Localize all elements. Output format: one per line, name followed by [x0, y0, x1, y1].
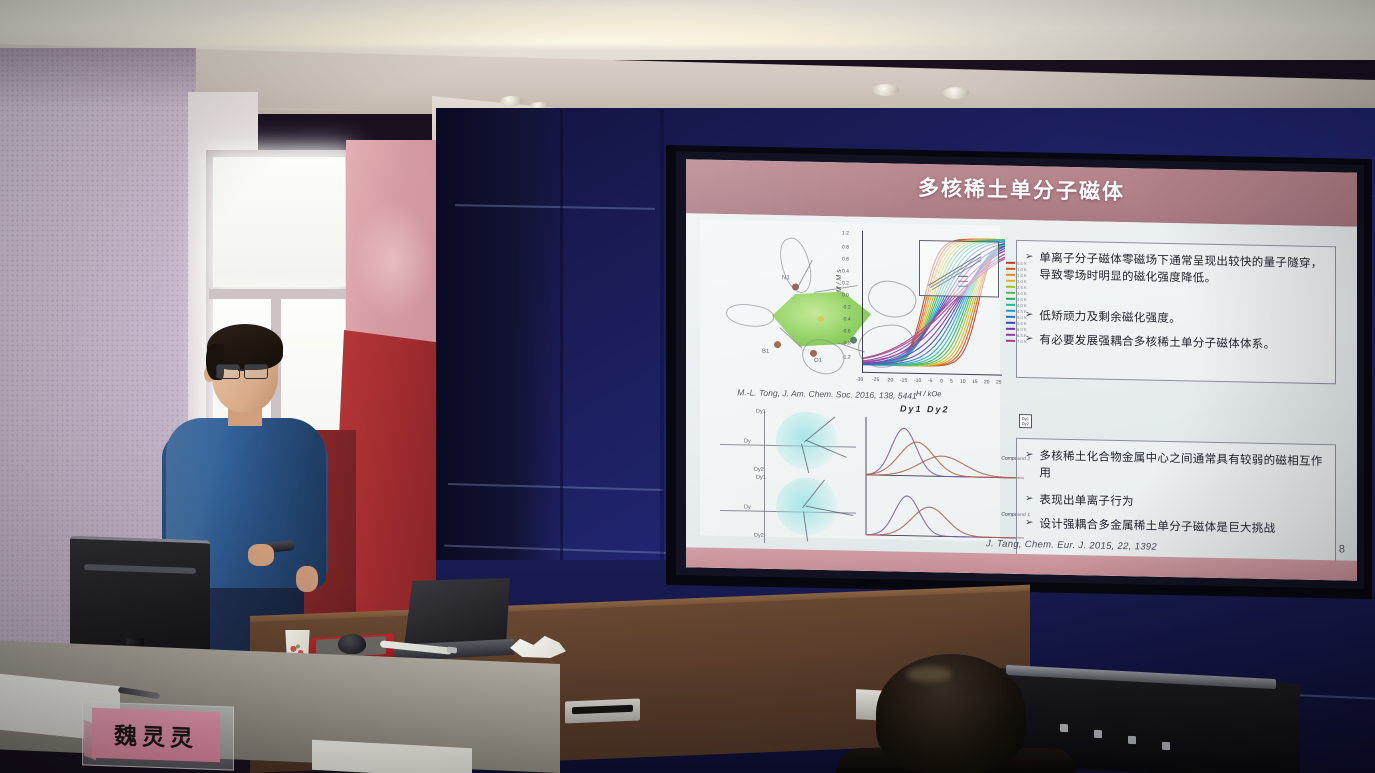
window-pane-top	[213, 157, 345, 287]
ac-susceptibility-chart: Dy1 Dy2 Dy1 Dy2 Compound 2 Compound 1	[836, 404, 1036, 548]
bullet-text: 表现出单离子行为	[1039, 491, 1133, 510]
slide-page-number: 8	[1339, 543, 1345, 555]
hysteresis-chart: M / M s H / kOe 1.2 0.8 0.6 0.4 0.2 0.0 …	[838, 226, 1028, 398]
wall-light-reflection	[352, 200, 434, 320]
presenter-hand-right	[296, 566, 318, 592]
presenter-hand-left	[248, 544, 274, 566]
inset-line	[932, 259, 982, 290]
axis-tick-label: Dy2	[754, 533, 764, 539]
legend-swatch	[1006, 298, 1015, 300]
ac-curves	[836, 410, 1036, 548]
y-tick: 0.4	[842, 268, 849, 274]
central-metal-atom	[818, 316, 824, 322]
ac-chart-legend: Dy1 Dy2	[1019, 414, 1032, 428]
legend-swatch	[1006, 286, 1015, 288]
y-tick: 0.0	[842, 292, 849, 298]
y-tick: 0.2	[842, 280, 849, 286]
atom-label: N1	[782, 275, 790, 281]
glasses-icon	[216, 364, 240, 379]
bullet-marker-icon: ➢	[1025, 307, 1033, 324]
legend-entry: Dy2	[1022, 421, 1029, 426]
conference-room-photo: 多核稀土单分子磁体	[0, 0, 1375, 773]
glasses-icon	[244, 364, 268, 379]
legend-swatch	[1006, 322, 1015, 324]
inset-legend-line	[958, 276, 968, 277]
atom-node	[810, 350, 817, 357]
ceiling-spotlight-icon	[943, 87, 969, 99]
nameplate: 魏灵灵	[92, 708, 220, 762]
computer-mouse[interactable]	[338, 634, 366, 654]
bullet-marker-icon: ➢	[1025, 331, 1033, 348]
chair-backrest	[70, 536, 210, 652]
y-tick: -0.4	[842, 316, 851, 322]
axis-tick-label: Dy	[744, 504, 751, 510]
x-tick: 0	[940, 378, 943, 384]
equipment-button[interactable]	[1094, 730, 1102, 738]
ligand-ring-icon	[725, 301, 776, 330]
x-tick: 15	[972, 379, 978, 385]
bullet-text: 多核稀土化合物金属中心之间通常具有较弱的磁相互作用	[1039, 447, 1325, 487]
y-tick: -0.2	[842, 304, 851, 310]
bullet-marker-icon: ➢	[1025, 515, 1033, 532]
x-tick: -15	[900, 378, 907, 384]
legend-swatch	[1006, 280, 1015, 282]
y-tick: -1.2	[842, 354, 851, 360]
chart-axes	[862, 231, 1002, 376]
legend-swatch	[1006, 268, 1015, 270]
x-tick: -5	[928, 378, 932, 384]
y-tick: 1.2	[842, 230, 849, 236]
atom-node	[792, 283, 799, 290]
bullet-box-bottom: ➢ 多核稀土化合物金属中心之间通常具有较弱的磁相互作用 ➢ 表现出单离子行为 ➢…	[1016, 438, 1336, 574]
x-tick: 5	[950, 379, 953, 385]
legend-swatch	[1006, 262, 1015, 264]
axis-vertical	[764, 477, 765, 543]
axis-tick-label: Dy1	[756, 409, 766, 415]
atom-label: O1	[814, 358, 822, 364]
atom-label: B1	[762, 349, 769, 355]
legend-swatch	[1006, 310, 1015, 312]
glasses-bridge-icon	[238, 369, 244, 371]
y-tick: 0.8	[842, 244, 849, 250]
inset-legend-line	[958, 286, 968, 287]
bullet-text: 单离子分子磁体零磁场下通常呈现出较快的量子隧穿，导致零场时明显的磁化强度降低。	[1039, 249, 1325, 289]
wall-panel-edge	[560, 110, 563, 560]
equipment-button[interactable]	[1060, 724, 1068, 732]
ceiling-spotlight-icon	[873, 84, 899, 96]
chart-inset	[919, 240, 999, 298]
audience-hair-highlight	[906, 666, 952, 682]
bullet-text: 设计强耦合多金属稀土单分子磁体是巨大挑战	[1039, 515, 1275, 537]
nameplate-text: 魏灵灵	[114, 717, 198, 754]
bullet-marker-icon: ➢	[1025, 249, 1033, 284]
slide-body: N1 B1 O1 M.-L. Tong, J. Am. Chem. Soc. 2…	[686, 213, 1357, 580]
wall-panel-edge	[660, 110, 664, 580]
inset-legend-line	[958, 281, 968, 282]
y-tick: -0.6	[842, 328, 851, 334]
inset-line	[928, 253, 981, 286]
legend-swatch	[1006, 292, 1015, 294]
legend-swatch	[1006, 316, 1015, 318]
y-tick: -0.8	[842, 340, 851, 346]
wall-shadow	[0, 48, 196, 108]
bullet-text: 低矫顽力及剩余磁化强度。	[1039, 307, 1181, 327]
inset-line	[930, 256, 981, 288]
ceiling-spotlight-icon	[500, 96, 522, 106]
bullet-text: 有必要发展强耦合多核稀土单分子磁体体系。	[1039, 331, 1275, 353]
legend-swatch	[1006, 340, 1015, 342]
legend-swatch	[1006, 334, 1015, 336]
x-tick: 10	[960, 379, 966, 385]
axis-vertical	[764, 411, 765, 477]
y-tick: 0.6	[842, 256, 849, 262]
axis-tick-label: Dy1	[756, 475, 766, 481]
equipment-button[interactable]	[1128, 736, 1136, 744]
x-tick: -30	[856, 377, 863, 383]
bullet-box-top: ➢ 单离子分子磁体零磁场下通常呈现出较快的量子隧穿，导致零场时明显的磁化强度降低…	[1016, 240, 1336, 384]
x-tick: -25	[872, 377, 879, 383]
bullet-marker-icon: ➢	[1025, 491, 1033, 508]
x-axis-label: H / kOe	[916, 389, 941, 399]
whiteboard-marker-cap	[447, 646, 458, 653]
atom-node	[774, 341, 781, 348]
equipment-button[interactable]	[1162, 742, 1170, 750]
legend-swatch	[1006, 274, 1015, 276]
axis-tick-label: Dy	[744, 438, 751, 444]
bullet-marker-icon: ➢	[1025, 447, 1033, 482]
x-tick: -10	[914, 378, 921, 384]
x-tick: 20	[984, 379, 990, 385]
x-tick: 25	[996, 379, 1002, 385]
presentation-slide[interactable]: 多核稀土单分子磁体	[686, 159, 1357, 580]
cove-light-glow	[120, 0, 1020, 46]
legend-swatch	[1006, 328, 1015, 330]
citation-bottom: J. Tang, Chem. Eur. J. 2015, 22, 1392	[986, 538, 1157, 552]
legend-swatch	[1006, 304, 1015, 306]
x-tick: -20	[886, 377, 893, 383]
